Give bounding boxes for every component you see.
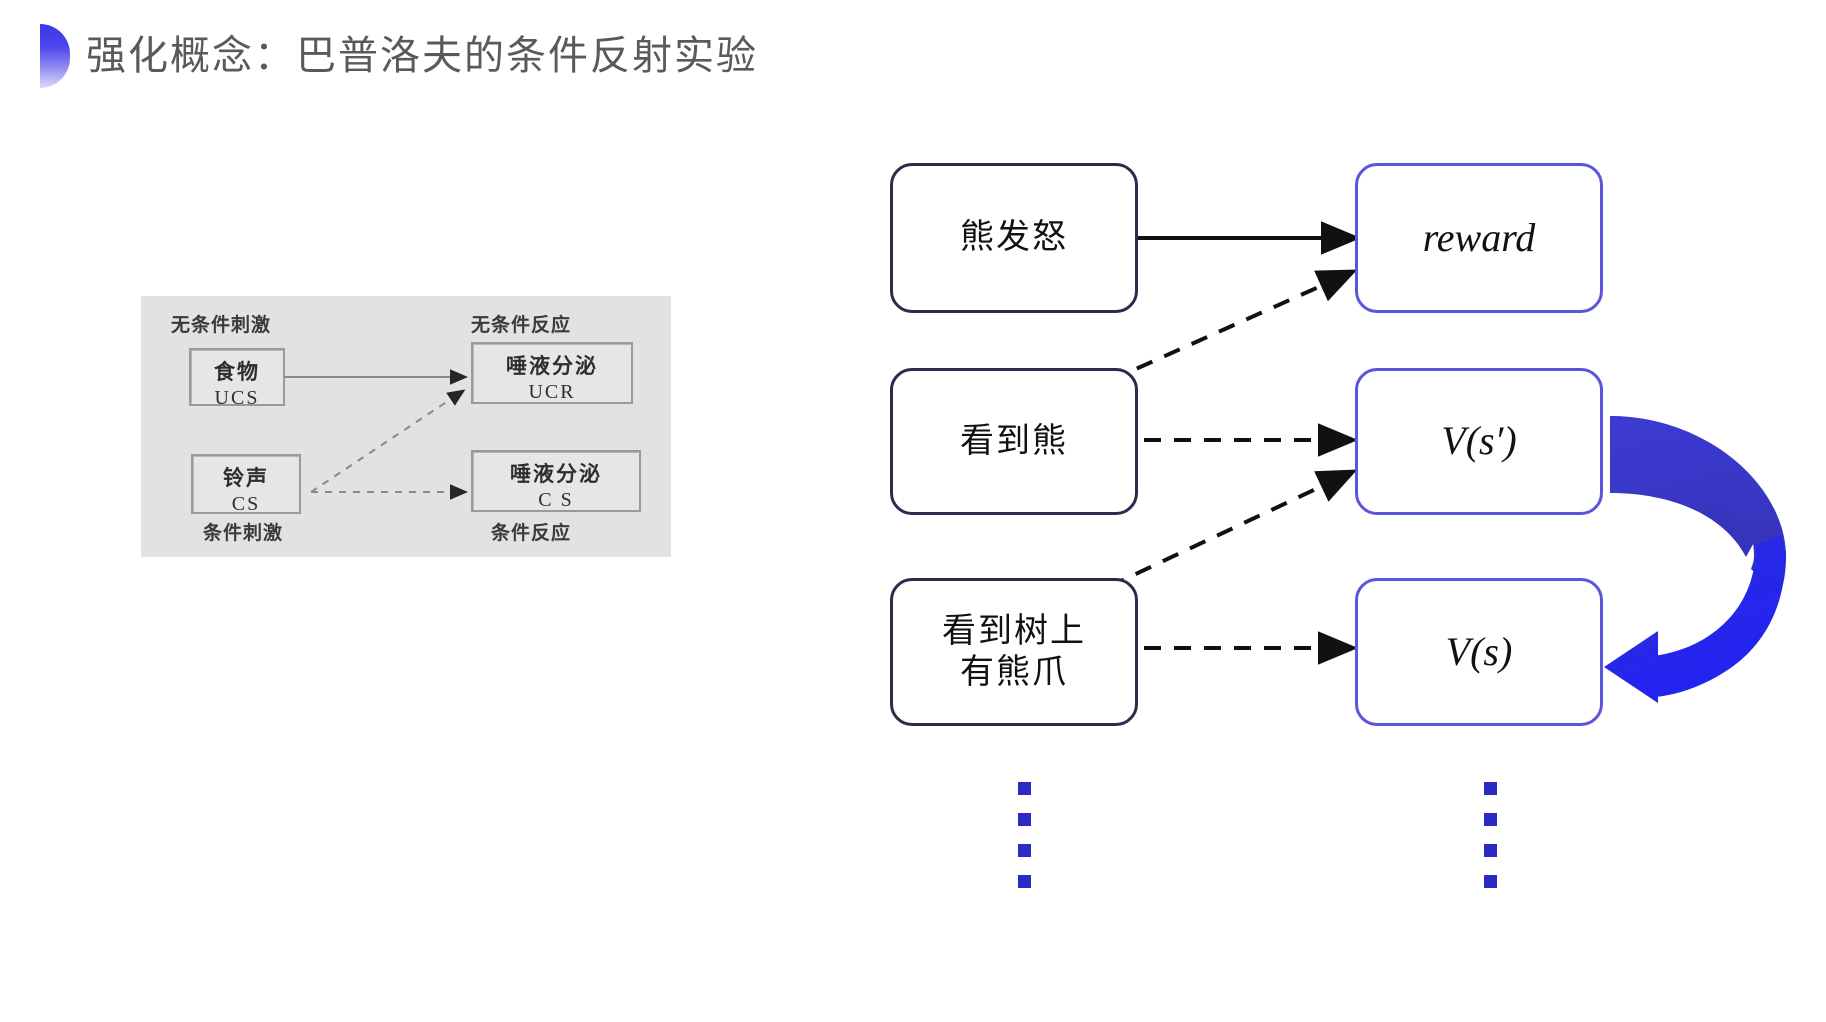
flow-node-see-bear[interactable]: 看到熊	[890, 368, 1138, 515]
pavlov-box-ucr-cn: 唾液分泌	[473, 350, 631, 380]
pavlov-box-ucs-en: UCS	[191, 387, 283, 410]
pavlov-label-conditioned-stimulus: 条件刺激	[203, 518, 283, 545]
pavlov-label-unconditioned-stimulus: 无条件刺激	[171, 310, 271, 337]
flow-node-v-s-label: V(s)	[1446, 628, 1513, 677]
slide-header: 强化概念：巴普洛夫的条件反射实验	[0, 0, 1826, 120]
pavlov-box-cs: 铃声 CS	[191, 454, 301, 514]
pavlov-box-ucs: 食物 UCS	[189, 348, 285, 406]
ellipsis-dot	[1484, 782, 1497, 795]
flow-node-bear-angry-label: 熊发怒	[960, 217, 1068, 258]
pavlov-box-ucr-en: UCR	[473, 381, 631, 404]
pavlov-box-ucs-cn: 食物	[191, 356, 283, 386]
flow-node-see-claw-label: 看到树上 有熊爪	[942, 611, 1086, 694]
pavlov-box-cs-cn: 铃声	[193, 462, 299, 492]
ellipsis-dot	[1018, 844, 1031, 857]
flow-node-see-claw-line1: 看到树上	[942, 611, 1086, 652]
ellipsis-dots-right	[1484, 782, 1497, 888]
pavlov-edge-cs-to-ucr	[311, 391, 463, 492]
curved-loop-arrow-icon	[1596, 385, 1826, 705]
pavlov-conditioning-figure: 无条件刺激 无条件反应 条件刺激 条件反应 食物 UCS 唾液分泌 UCR 铃声…	[141, 296, 671, 557]
pavlov-box-cs-en: CS	[193, 493, 299, 516]
ellipsis-dot	[1484, 813, 1497, 826]
pavlov-label-unconditioned-response: 无条件反应	[471, 310, 571, 337]
flow-node-bear-angry[interactable]: 熊发怒	[890, 163, 1138, 313]
flow-node-v-s[interactable]: V(s)	[1355, 578, 1603, 726]
half-circle-bullet-icon	[40, 24, 70, 88]
ellipsis-dot	[1018, 813, 1031, 826]
pavlov-label-conditioned-response: 条件反应	[491, 518, 571, 545]
ellipsis-dot	[1018, 782, 1031, 795]
ellipsis-dots-left	[1018, 782, 1031, 888]
pavlov-box-cr-en: C S	[473, 489, 639, 512]
flow-node-see-bear-label: 看到熊	[960, 421, 1068, 462]
pavlov-box-ucr: 唾液分泌 UCR	[471, 342, 633, 404]
flow-node-reward-label: reward	[1423, 214, 1536, 263]
page-title: 强化概念：巴普洛夫的条件反射实验	[86, 27, 758, 85]
pavlov-box-cr-cn: 唾液分泌	[473, 458, 639, 488]
ellipsis-dot	[1484, 844, 1497, 857]
flow-node-see-claw[interactable]: 看到树上 有熊爪	[890, 578, 1138, 726]
flow-node-v-s-next[interactable]: V(s′)	[1355, 368, 1603, 515]
pavlov-box-cr: 唾液分泌 C S	[471, 450, 641, 512]
flow-node-reward[interactable]: reward	[1355, 163, 1603, 313]
flow-node-v-s-next-label: V(s′)	[1441, 417, 1516, 466]
ellipsis-dot	[1484, 875, 1497, 888]
ellipsis-dot	[1018, 875, 1031, 888]
flow-node-see-claw-line2: 有熊爪	[942, 652, 1086, 693]
